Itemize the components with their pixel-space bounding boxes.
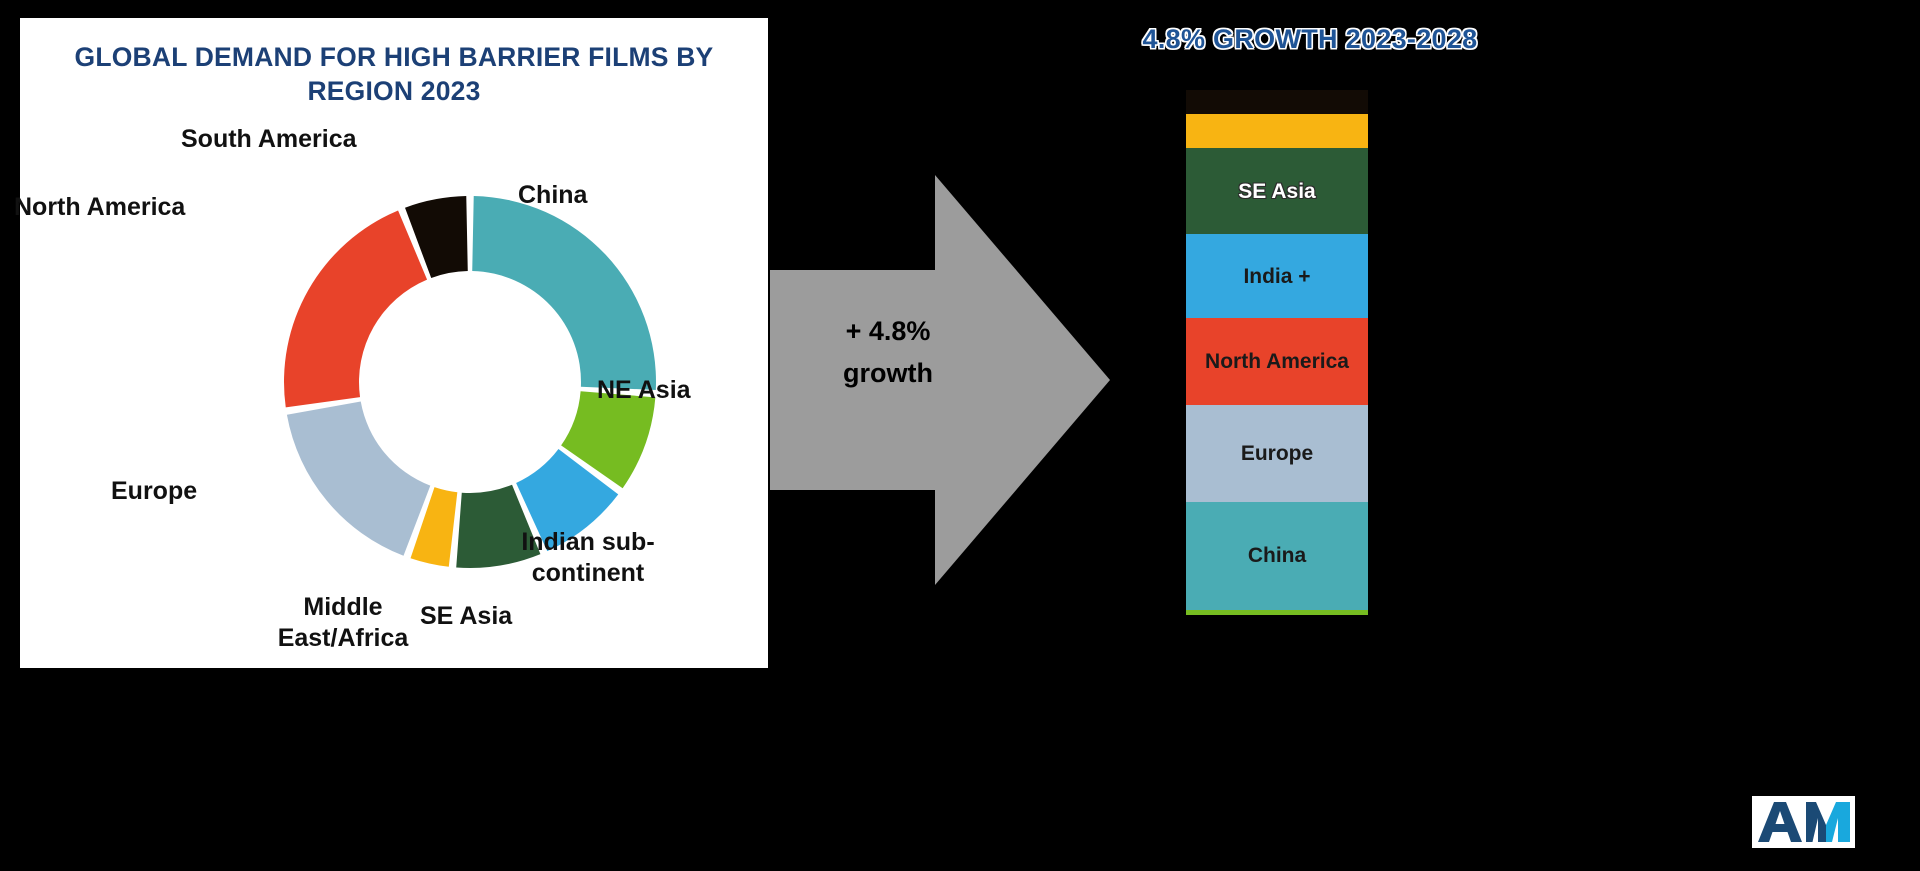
donut-label-china: China xyxy=(518,180,587,211)
stacked-bar-segment-label: China xyxy=(1248,543,1306,568)
stacked-bar-segment-se-asia: SE Asia xyxy=(1186,148,1368,235)
stacked-bar-segment-india-: India + xyxy=(1186,234,1368,318)
growth-arrow-label: + 4.8% growth xyxy=(793,310,983,394)
stacked-bar-segment-middle-east-africa xyxy=(1186,114,1368,148)
donut-label-north-america: North America xyxy=(14,192,185,223)
donut-label-se-asia: SE Asia xyxy=(420,601,512,632)
stacked-bar-segment-label: Europe xyxy=(1241,441,1313,466)
stacked-bar-chart: SE AsiaIndia +North AmericaEuropeChina xyxy=(1186,90,1368,615)
stacked-bar-segment-north-america: North America xyxy=(1186,318,1368,405)
donut-label-middle-east-africa: Middle East/Africa xyxy=(258,592,428,654)
donut-slice-europe xyxy=(287,402,430,556)
ami-logo-icon xyxy=(1756,800,1852,844)
stacked-bar-segment-europe: Europe xyxy=(1186,405,1368,502)
donut-label-indian-sub-continent: Indian sub-continent xyxy=(508,527,668,589)
donut-slice-china xyxy=(472,196,656,390)
stacked-bar-segment-ne-asia xyxy=(1186,610,1368,615)
donut-slice-north-america xyxy=(284,210,427,407)
growth-title: 4.8% GROWTH 2023-2028 xyxy=(1060,24,1560,55)
growth-arrow-label-line1: + 4.8% xyxy=(793,310,983,352)
growth-arrow-label-line2: growth xyxy=(793,352,983,394)
donut-label-europe: Europe xyxy=(111,476,197,507)
infographic-canvas: GLOBAL DEMAND FOR HIGH BARRIER FILMS BY … xyxy=(0,0,1920,871)
donut-label-south-america: South America xyxy=(181,124,357,155)
stacked-bar-segment-label: North America xyxy=(1205,349,1349,374)
stacked-bar-segment-label: SE Asia xyxy=(1238,179,1315,204)
stacked-bar-segment-china: China xyxy=(1186,502,1368,610)
stacked-bar-segment-label: India + xyxy=(1243,264,1310,289)
donut-label-ne-asia: NE Asia xyxy=(597,375,691,406)
ami-logo xyxy=(1752,796,1855,848)
stacked-bar-segment-south-america xyxy=(1186,90,1368,114)
